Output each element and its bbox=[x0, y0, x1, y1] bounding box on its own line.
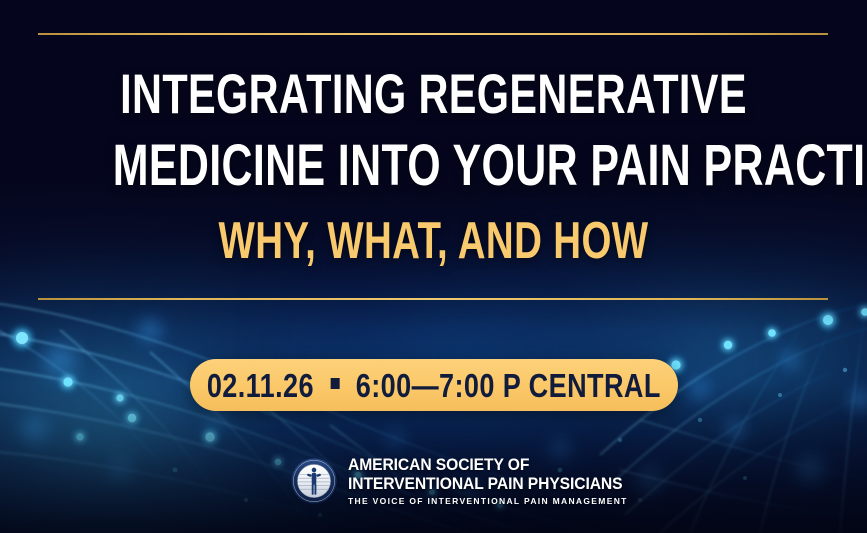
asipp-seal-emblem-icon bbox=[291, 458, 337, 504]
webinar-promo-banner: INTEGRATING REGENERATIVE MEDICINE INTO Y… bbox=[0, 0, 867, 533]
divider-rule-bottom bbox=[38, 298, 828, 300]
asipp-name-line-1: AMERICAN SOCIETY OF bbox=[348, 456, 622, 473]
square-bullet-icon bbox=[331, 378, 340, 389]
headline-line-1: INTEGRATING REGENERATIVE bbox=[113, 58, 755, 130]
asipp-logo-text: AMERICAN SOCIETY OF INTERVENTIONAL PAIN … bbox=[348, 456, 646, 506]
event-date: 02.11.26 bbox=[207, 369, 314, 402]
date-time-pill-content: 02.11.26 6:00—7:00 P CENTRAL bbox=[207, 369, 661, 402]
asipp-name-line-2: INTERVENTIONAL PAIN PHYSICIANS bbox=[348, 475, 622, 492]
asipp-logo: AMERICAN SOCIETY OF INTERVENTIONAL PAIN … bbox=[291, 456, 646, 506]
headline-line-2: MEDICINE INTO YOUR PAIN PRACTICE: bbox=[113, 130, 755, 202]
date-time-pill: 02.11.26 6:00—7:00 P CENTRAL bbox=[190, 359, 678, 411]
headline-block: INTEGRATING REGENERATIVE MEDICINE INTO Y… bbox=[0, 58, 867, 276]
asipp-tagline: THE VOICE OF INTERVENTIONAL PAIN MANAGEM… bbox=[348, 496, 646, 506]
divider-rule-top bbox=[38, 33, 828, 35]
headline-subline: WHY, WHAT, AND HOW bbox=[113, 206, 755, 276]
event-time: 6:00—7:00 P CENTRAL bbox=[356, 369, 661, 402]
